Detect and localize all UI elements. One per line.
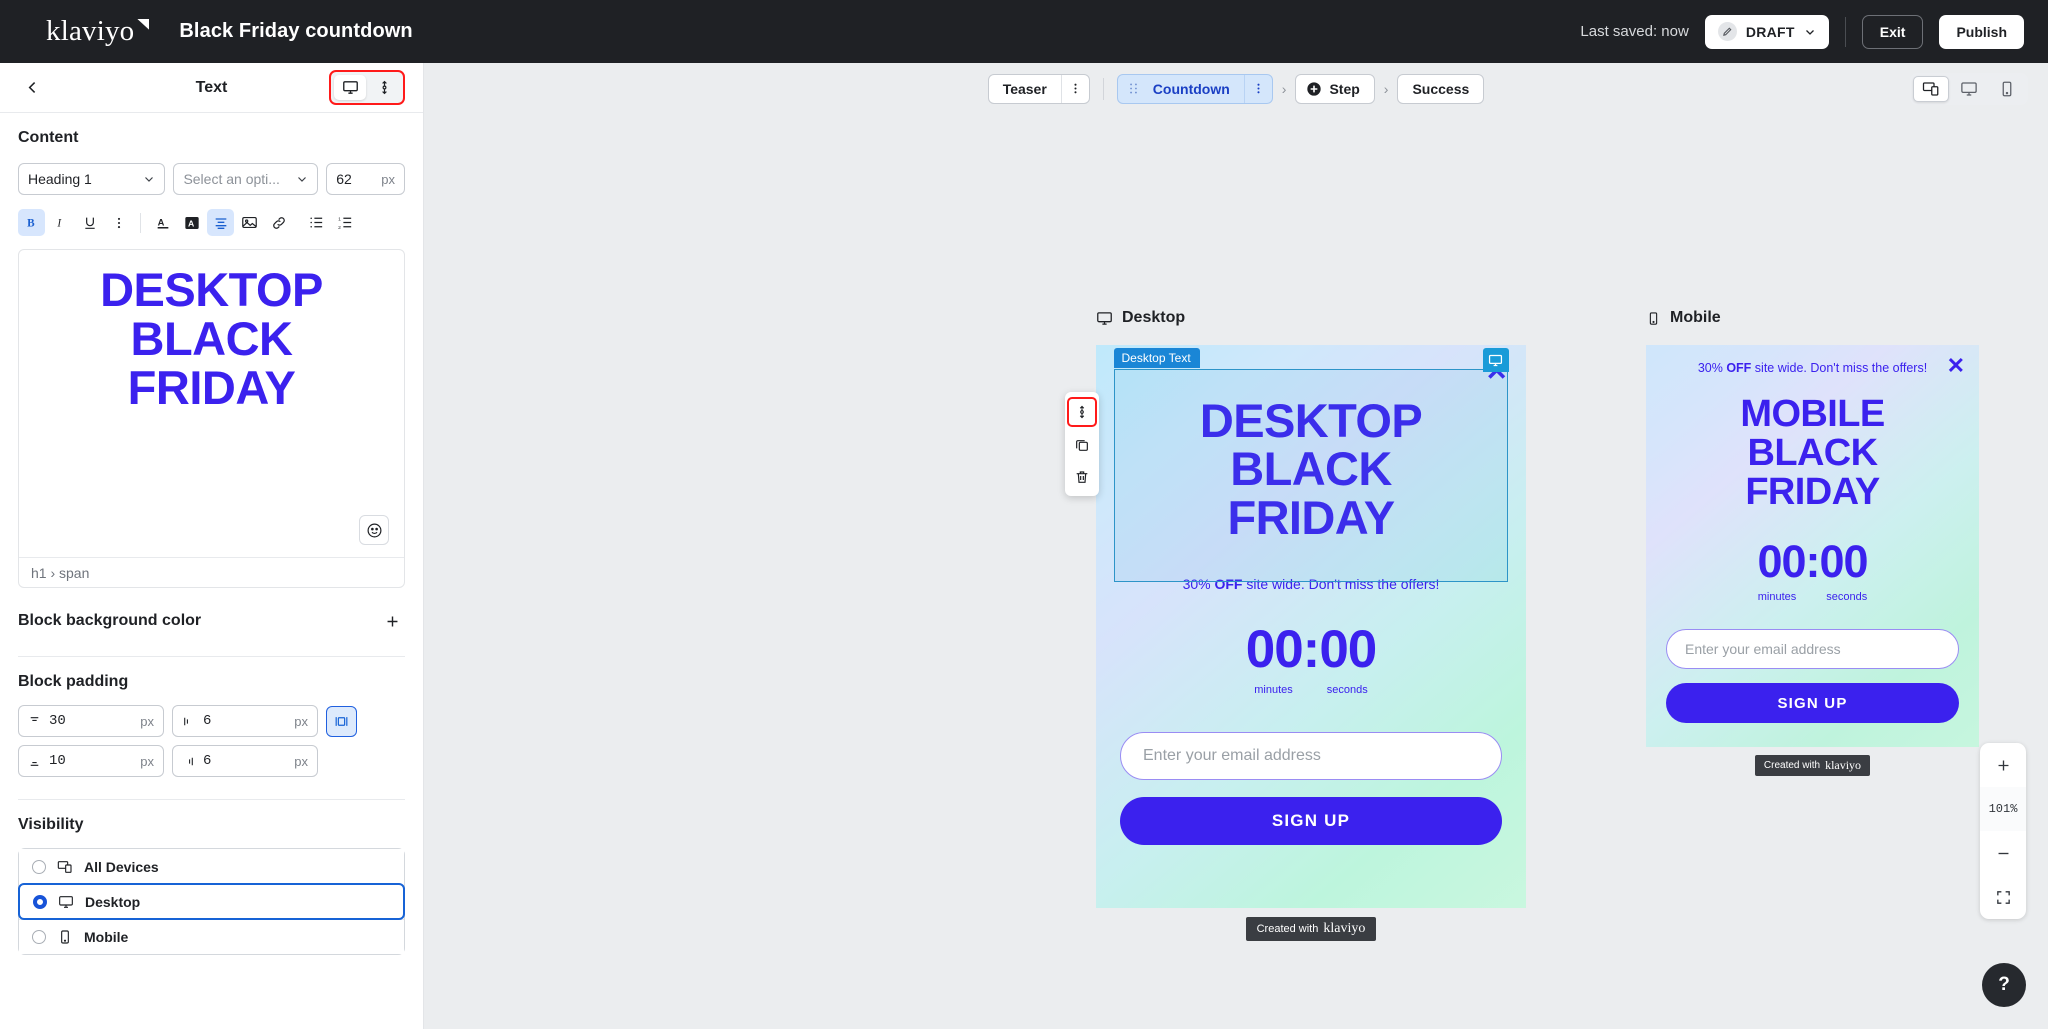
visibility-section: Visibility All Devices Desktop: [0, 800, 423, 975]
insert-link-button[interactable]: [265, 209, 292, 236]
panel-header: Text: [0, 63, 423, 113]
visibility-option-label: All Devices: [84, 859, 159, 875]
visibility-option-label: Mobile: [84, 929, 128, 945]
canvas-toolbar: Teaser Countdown: [424, 63, 2048, 114]
created-with-logo: klaviyo: [1323, 921, 1365, 937]
mobile-icon: [1998, 80, 2016, 98]
status-dropdown[interactable]: DRAFT: [1705, 15, 1829, 49]
all-devices-icon: [1922, 80, 1940, 98]
numbered-list-icon: 12: [337, 214, 354, 231]
unit-label: px: [140, 714, 154, 729]
zoom-out-button[interactable]: [1980, 831, 2026, 875]
underline-icon: [82, 215, 98, 231]
klaviyo-logo[interactable]: klaviyo: [46, 15, 149, 48]
block-floating-toolbar: [1065, 392, 1099, 496]
toggle-desktop-view[interactable]: [334, 75, 366, 100]
text-color-icon: A: [155, 215, 171, 231]
desktop-timer-units: minutes seconds: [1096, 684, 1526, 696]
step-label: Teaser: [989, 81, 1061, 97]
plus-icon: [1995, 757, 2012, 774]
created-with-text: Created with: [1257, 923, 1319, 935]
step-arrow: ›: [1281, 81, 1288, 97]
mobile-popup-heading: MOBILE BLACK FRIDAY: [1646, 375, 1979, 512]
font-size-unit: px: [381, 172, 395, 187]
help-button[interactable]: ?: [1982, 963, 2026, 1007]
highlight-color-icon: A: [184, 215, 200, 231]
formatting-toolbar: B I A: [18, 209, 405, 236]
top-bar: klaviyo Black Friday countdown Last save…: [0, 0, 2048, 63]
mobile-email-placeholder: Enter your email address: [1685, 641, 1841, 657]
padding-left-input[interactable]: 6 px: [172, 745, 318, 777]
insert-image-button[interactable]: [236, 209, 263, 236]
visibility-option-mobile[interactable]: Mobile: [19, 919, 404, 954]
more-options-icon: [1252, 82, 1265, 95]
editor-app: klaviyo Black Friday countdown Last save…: [0, 0, 2048, 1029]
heading-style-value: Heading 1: [28, 171, 92, 187]
fit-screen-icon: [1995, 889, 2012, 906]
status-label: DRAFT: [1746, 24, 1795, 40]
mobile-icon: [57, 929, 73, 945]
selected-block-tag: Desktop Text: [1114, 348, 1200, 368]
block-delete-button[interactable]: [1068, 463, 1096, 491]
emoji-picker-button[interactable]: [359, 515, 389, 545]
timer-unit-seconds: seconds: [1826, 591, 1867, 603]
underline-button[interactable]: [76, 209, 103, 236]
created-with-text: Created with: [1764, 760, 1820, 771]
canvas-toggle-desktop[interactable]: [1951, 76, 1987, 102]
align-center-icon: [213, 215, 229, 231]
svg-text:A: A: [188, 218, 195, 228]
numbered-list-button[interactable]: 12: [332, 209, 359, 236]
emoji-smiley-icon: [366, 522, 383, 539]
visibility-option-label: Desktop: [85, 894, 140, 910]
step-menu-button[interactable]: [1061, 75, 1089, 103]
padding-left-value: 6: [203, 753, 286, 769]
block-sync-button[interactable]: [1067, 397, 1097, 427]
svg-text:I: I: [56, 217, 62, 229]
block-background-label: Block background color: [18, 612, 201, 630]
desktop-icon: [58, 894, 74, 910]
padding-fields: 30 px 6 px 10: [18, 705, 405, 777]
zoom-controls: 101%: [1980, 743, 2026, 919]
back-button[interactable]: [18, 74, 46, 102]
exit-button[interactable]: Exit: [1862, 15, 1924, 49]
padding-right-icon: [182, 715, 195, 728]
padding-left-icon: [182, 755, 195, 768]
subtext-bold: OFF: [1726, 361, 1751, 375]
page-title: Black Friday countdown: [179, 20, 412, 43]
padding-bottom-input[interactable]: 10 px: [18, 745, 164, 777]
toggle-sync-devices[interactable]: [368, 75, 400, 100]
desktop-email-input[interactable]: Enter your email address: [1120, 732, 1502, 780]
logo-flag-icon: [137, 19, 149, 30]
radio-desktop[interactable]: [33, 895, 47, 909]
all-devices-icon: [57, 859, 73, 875]
bold-icon: B: [24, 215, 39, 230]
mobile-signup-button[interactable]: SIGN UP: [1666, 683, 1959, 723]
padding-right-value: 6: [203, 713, 286, 729]
chevron-down-icon: [296, 173, 308, 185]
unit-label: px: [294, 714, 308, 729]
chevron-left-icon: [24, 79, 41, 96]
heading-line: FRIDAY: [1646, 473, 1979, 512]
step-chip-countdown[interactable]: Countdown: [1117, 74, 1273, 104]
visibility-option-all-devices[interactable]: All Devices: [19, 849, 404, 884]
publish-button[interactable]: Publish: [1939, 15, 2024, 49]
block-duplicate-button[interactable]: [1068, 431, 1096, 459]
body: Text Content: [0, 63, 2048, 1029]
grip-dots-icon: [1128, 82, 1139, 95]
bulleted-list-button[interactable]: [303, 209, 330, 236]
preview-canvas: Teaser Countdown: [424, 63, 2048, 1029]
unit-label: px: [140, 754, 154, 769]
desktop-icon: [1960, 80, 1978, 98]
chevron-down-icon: [1804, 26, 1816, 38]
font-size-value: 62: [336, 171, 352, 187]
bold-button[interactable]: B: [18, 209, 45, 236]
svg-text:1: 1: [338, 216, 341, 222]
mobile-preview: Mobile ✕ 30% OFF site wide. Don't miss t…: [1646, 309, 1979, 776]
plus-circle-icon: [1306, 81, 1322, 97]
canvas-toggle-mobile[interactable]: [1989, 76, 2025, 102]
link-sides-icon: [334, 714, 349, 729]
created-with-logo: klaviyo: [1825, 758, 1861, 773]
italic-button[interactable]: I: [47, 209, 74, 236]
more-format-options-button[interactable]: [105, 209, 132, 236]
padding-top-input[interactable]: 30 px: [18, 705, 164, 737]
padding-bottom-icon: [28, 755, 41, 768]
heading-line: BLACK: [1646, 434, 1979, 473]
unit-label: px: [294, 754, 308, 769]
mobile-preview-label-row: Mobile: [1646, 309, 1979, 327]
heading-style-select[interactable]: Heading 1: [18, 163, 165, 195]
sync-devices-icon: [1075, 404, 1089, 420]
font-size-input[interactable]: 62 px: [326, 163, 405, 195]
mobile-preview-label: Mobile: [1670, 309, 1721, 327]
timer-unit-minutes: minutes: [1254, 684, 1293, 696]
visibility-options: All Devices Desktop Mobile: [18, 848, 405, 955]
block-background-section: Block background color: [0, 588, 423, 657]
rich-text-editor[interactable]: DESKTOP BLACK FRIDAY h1 › span: [18, 249, 405, 588]
trash-icon: [1074, 469, 1090, 485]
fit-to-screen-button[interactable]: [1980, 875, 2026, 919]
drag-handle-icon[interactable]: [1118, 82, 1139, 95]
content-section: Content Heading 1 Select an opti... 62: [0, 113, 423, 236]
step-navigation: Teaser Countdown: [988, 74, 1485, 104]
padding-bottom-value: 10: [49, 753, 132, 769]
add-step-button[interactable]: Step: [1295, 74, 1374, 104]
font-family-select[interactable]: Select an opti...: [173, 163, 318, 195]
chevron-down-icon: [143, 173, 155, 185]
timer-unit-seconds: seconds: [1327, 684, 1368, 696]
heading-line: MOBILE: [1646, 395, 1979, 434]
desktop-icon: [1096, 310, 1113, 327]
divider: [1845, 17, 1846, 47]
mobile-popup-close-button[interactable]: ✕: [1947, 355, 1965, 377]
visibility-option-desktop[interactable]: Desktop: [18, 883, 405, 920]
sync-devices-icon: [377, 79, 392, 96]
zoom-in-button[interactable]: [1980, 743, 2026, 787]
mobile-email-input[interactable]: Enter your email address: [1666, 629, 1959, 669]
step-menu-button[interactable]: [1244, 75, 1272, 103]
padding-right-input[interactable]: 6 px: [172, 705, 318, 737]
mobile-icon: [1646, 310, 1661, 327]
subtext-post: site wide. Don't miss the offers!: [1751, 361, 1927, 375]
content-heading: Content: [18, 129, 405, 147]
panel-device-toggle-wrap: [329, 70, 405, 105]
divider: [140, 213, 141, 233]
italic-icon: I: [53, 215, 68, 230]
desktop-created-with-row: Created with klaviyo: [1096, 917, 1526, 941]
editor-line: FRIDAY: [31, 364, 392, 413]
insert-link-icon: [271, 215, 287, 231]
svg-text:A: A: [157, 217, 164, 227]
plus-icon: [384, 613, 401, 630]
desktop-signup-button[interactable]: SIGN UP: [1120, 797, 1502, 845]
svg-text:2: 2: [338, 225, 341, 231]
timer-unit-minutes: minutes: [1758, 591, 1797, 603]
desktop-preview: Desktop ✕ DESKTOP BLACK FRIDAY 30% OFF s…: [1096, 309, 1526, 941]
add-block-background-button[interactable]: [379, 608, 405, 634]
breadcrumb: h1 › span: [19, 557, 404, 587]
last-saved-status: Last saved: now: [1580, 23, 1688, 40]
editor-line: BLACK: [31, 315, 392, 364]
editor-content[interactable]: DESKTOP BLACK FRIDAY: [19, 250, 404, 557]
radio-all-devices[interactable]: [32, 860, 46, 874]
step-label: Countdown: [1139, 81, 1244, 97]
desktop-badge-icon: [1488, 353, 1503, 368]
visibility-label: Visibility: [18, 816, 405, 834]
step-chip-success[interactable]: Success: [1397, 74, 1484, 104]
divider: [1103, 78, 1104, 100]
top-bar-actions: Last saved: now DRAFT Exit Publish: [1580, 15, 2024, 49]
step-chip-teaser[interactable]: Teaser: [988, 74, 1090, 104]
selected-text-block[interactable]: Desktop Text: [1114, 369, 1508, 582]
text-style-controls: Heading 1 Select an opti... 62 px: [18, 163, 405, 195]
align-center-button[interactable]: [207, 209, 234, 236]
block-padding-section: Block padding 30 px 6 px: [0, 657, 423, 800]
block-padding-label: Block padding: [18, 673, 405, 691]
preview-stage: Desktop ✕ DESKTOP BLACK FRIDAY 30% OFF s…: [424, 114, 2048, 1029]
link-padding-sides-button[interactable]: [326, 706, 357, 737]
subtext-pre: 30%: [1698, 361, 1727, 375]
padding-top-icon: [28, 715, 41, 728]
canvas-device-toggle: [1910, 73, 2028, 105]
canvas-toggle-all-devices[interactable]: [1913, 76, 1949, 102]
left-settings-panel: Text Content: [0, 63, 424, 1029]
mobile-countdown-timer: 00:00: [1646, 536, 1979, 588]
duplicate-icon: [1074, 437, 1090, 453]
bulleted-list-icon: [308, 214, 325, 231]
mobile-created-with-row: Created with klaviyo: [1646, 755, 1979, 776]
logo-wordmark: klaviyo: [46, 15, 134, 48]
step-label: Success: [1398, 81, 1483, 97]
desktop-email-placeholder: Enter your email address: [1143, 747, 1321, 765]
radio-mobile[interactable]: [32, 930, 46, 944]
zoom-level: 101%: [1980, 787, 2026, 831]
desktop-popup: ✕ DESKTOP BLACK FRIDAY 30% OFF site wide…: [1096, 345, 1526, 908]
editor-line: DESKTOP: [31, 266, 392, 315]
desktop-countdown-timer: 00:00: [1096, 619, 1526, 680]
add-step-label: Step: [1329, 81, 1373, 97]
text-color-button[interactable]: A: [149, 209, 176, 236]
draft-pencil-icon: [1718, 22, 1737, 41]
desktop-preview-label-row: Desktop: [1096, 309, 1526, 327]
font-family-placeholder: Select an opti...: [183, 171, 280, 187]
highlight-color-button[interactable]: A: [178, 209, 205, 236]
selected-block-device-badge[interactable]: [1483, 348, 1509, 372]
mobile-popup-subtext: 30% OFF site wide. Don't miss the offers…: [1646, 345, 1979, 375]
step-arrow: ›: [1383, 81, 1390, 97]
created-with-badge: Created with klaviyo: [1246, 917, 1377, 941]
insert-image-icon: [241, 214, 258, 231]
desktop-icon: [342, 79, 359, 96]
panel-scroll-area[interactable]: Content Heading 1 Select an opti... 62: [0, 113, 423, 1029]
minus-icon: [1995, 845, 2012, 862]
more-options-icon: [112, 216, 126, 230]
more-options-icon: [1069, 82, 1082, 95]
mobile-popup: ✕ 30% OFF site wide. Don't miss the offe…: [1646, 345, 1979, 747]
mobile-timer-units: minutes seconds: [1646, 591, 1979, 603]
desktop-preview-label: Desktop: [1122, 309, 1185, 327]
padding-top-value: 30: [49, 713, 132, 729]
created-with-badge: Created with klaviyo: [1755, 755, 1870, 776]
panel-device-toggle: [329, 70, 405, 105]
svg-text:B: B: [27, 217, 35, 229]
